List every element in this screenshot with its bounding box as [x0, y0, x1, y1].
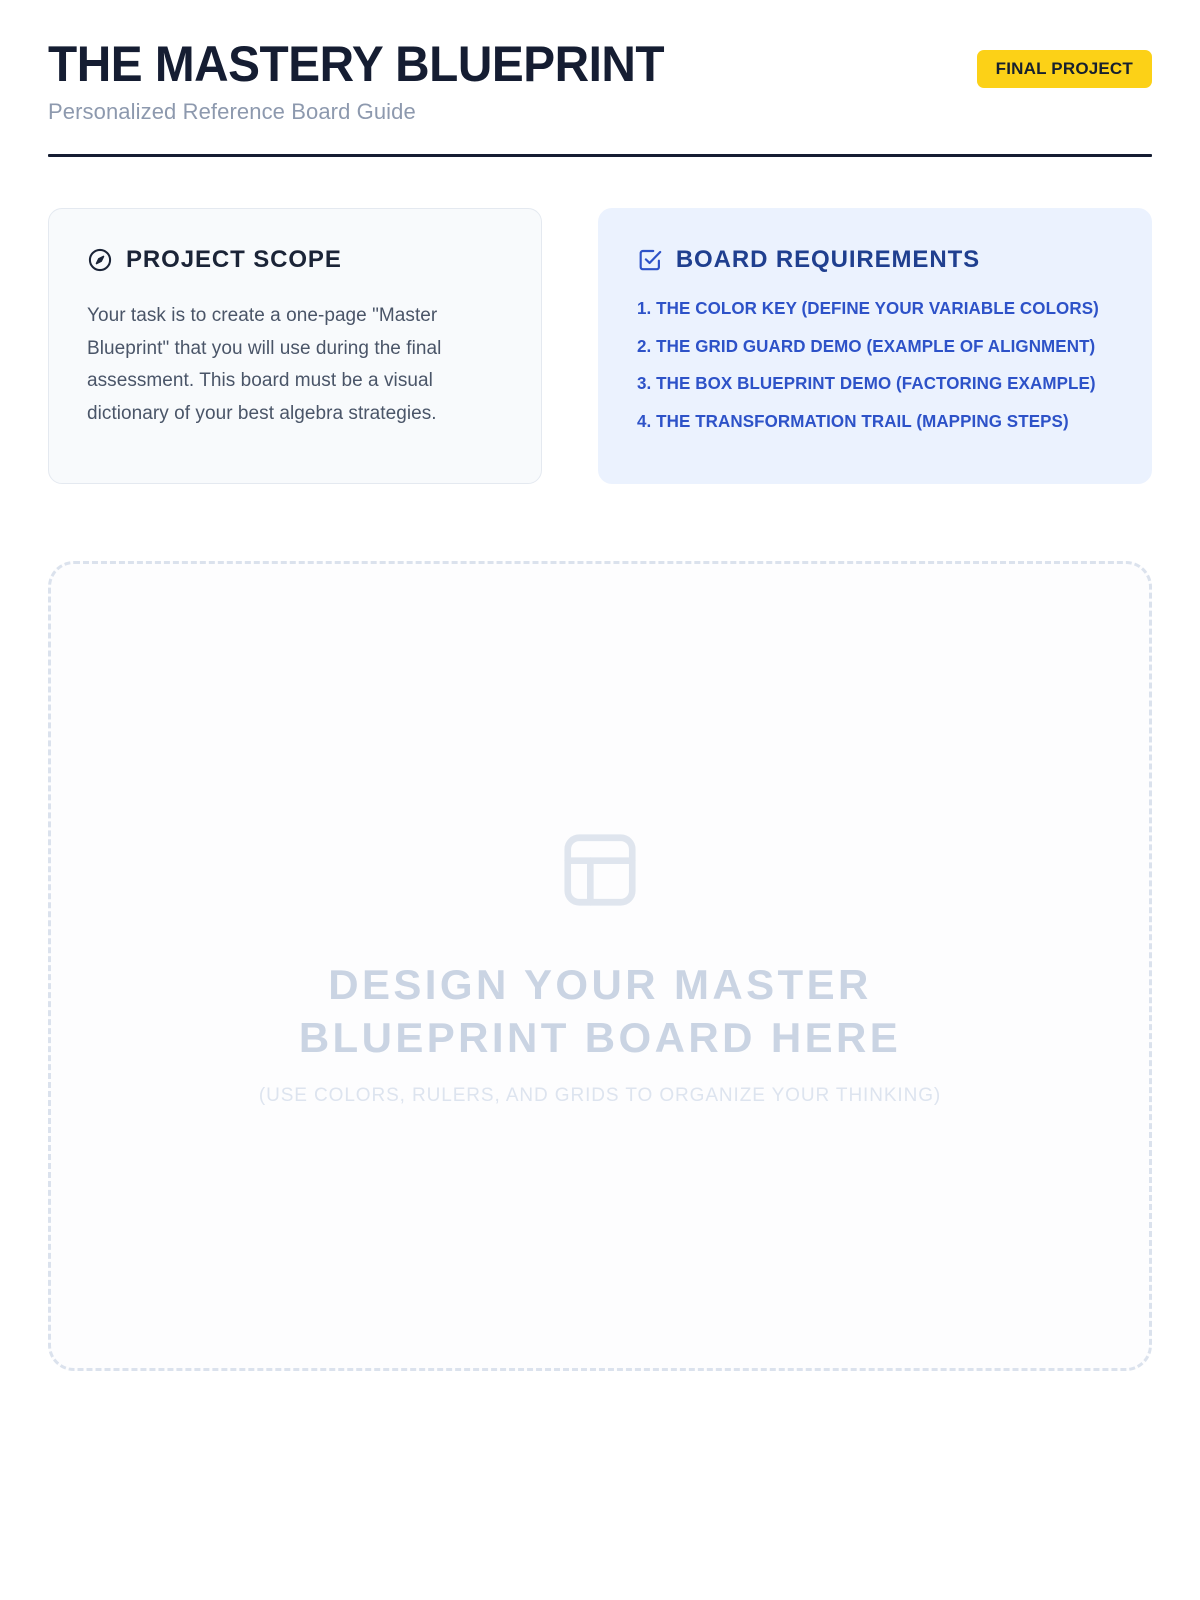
header-row: THE MASTERY BLUEPRINT Personalized Refer… [48, 38, 1152, 125]
list-item: 3. THE BOX BLUEPRINT DEMO (FACTORING EXA… [637, 375, 1099, 393]
dropzone-subtitle: (USE COLORS, RULERS, AND GRIDS TO ORGANI… [259, 1086, 941, 1105]
list-item: 1. THE COLOR KEY (DEFINE YOUR VARIABLE C… [637, 300, 1099, 318]
page-title: THE MASTERY BLUEPRINT [48, 38, 664, 90]
board-requirements-title: BOARD REQUIREMENTS [676, 248, 980, 272]
blueprint-design-dropzone[interactable]: DESIGN YOUR MASTER BLUEPRINT BOARD HERE … [48, 561, 1152, 1371]
project-scope-card: PROJECT SCOPE Your task is to create a o… [48, 208, 542, 484]
title-block: THE MASTERY BLUEPRINT Personalized Refer… [48, 38, 693, 125]
list-item: 2. THE GRID GUARD DEMO (EXAMPLE OF ALIGN… [637, 338, 1099, 356]
layout-dashboard-icon [557, 827, 643, 913]
list-item: 4. THE TRANSFORMATION TRAIL (MAPPING STE… [637, 413, 1099, 431]
check-square-icon [637, 247, 663, 273]
page-header: THE MASTERY BLUEPRINT Personalized Refer… [48, 0, 1152, 157]
info-cards: PROJECT SCOPE Your task is to create a o… [48, 208, 1152, 484]
project-scope-header: PROJECT SCOPE [87, 247, 503, 273]
status-badge: FINAL PROJECT [977, 50, 1152, 88]
project-scope-body: Your task is to create a one-page "Maste… [87, 300, 503, 431]
requirements-list: 1. THE COLOR KEY (DEFINE YOUR VARIABLE C… [637, 300, 1113, 430]
board-requirements-header: BOARD REQUIREMENTS [637, 247, 1113, 273]
dropzone-title: DESIGN YOUR MASTER BLUEPRINT BOARD HERE [190, 959, 1010, 1064]
worksheet-page: THE MASTERY BLUEPRINT Personalized Refer… [0, 0, 1200, 1600]
project-scope-title: PROJECT SCOPE [126, 248, 342, 272]
compass-icon [87, 247, 113, 273]
header-divider [48, 154, 1152, 157]
board-requirements-card: BOARD REQUIREMENTS 1. THE COLOR KEY (DEF… [598, 208, 1152, 484]
page-subtitle: Personalized Reference Board Guide [48, 99, 693, 125]
